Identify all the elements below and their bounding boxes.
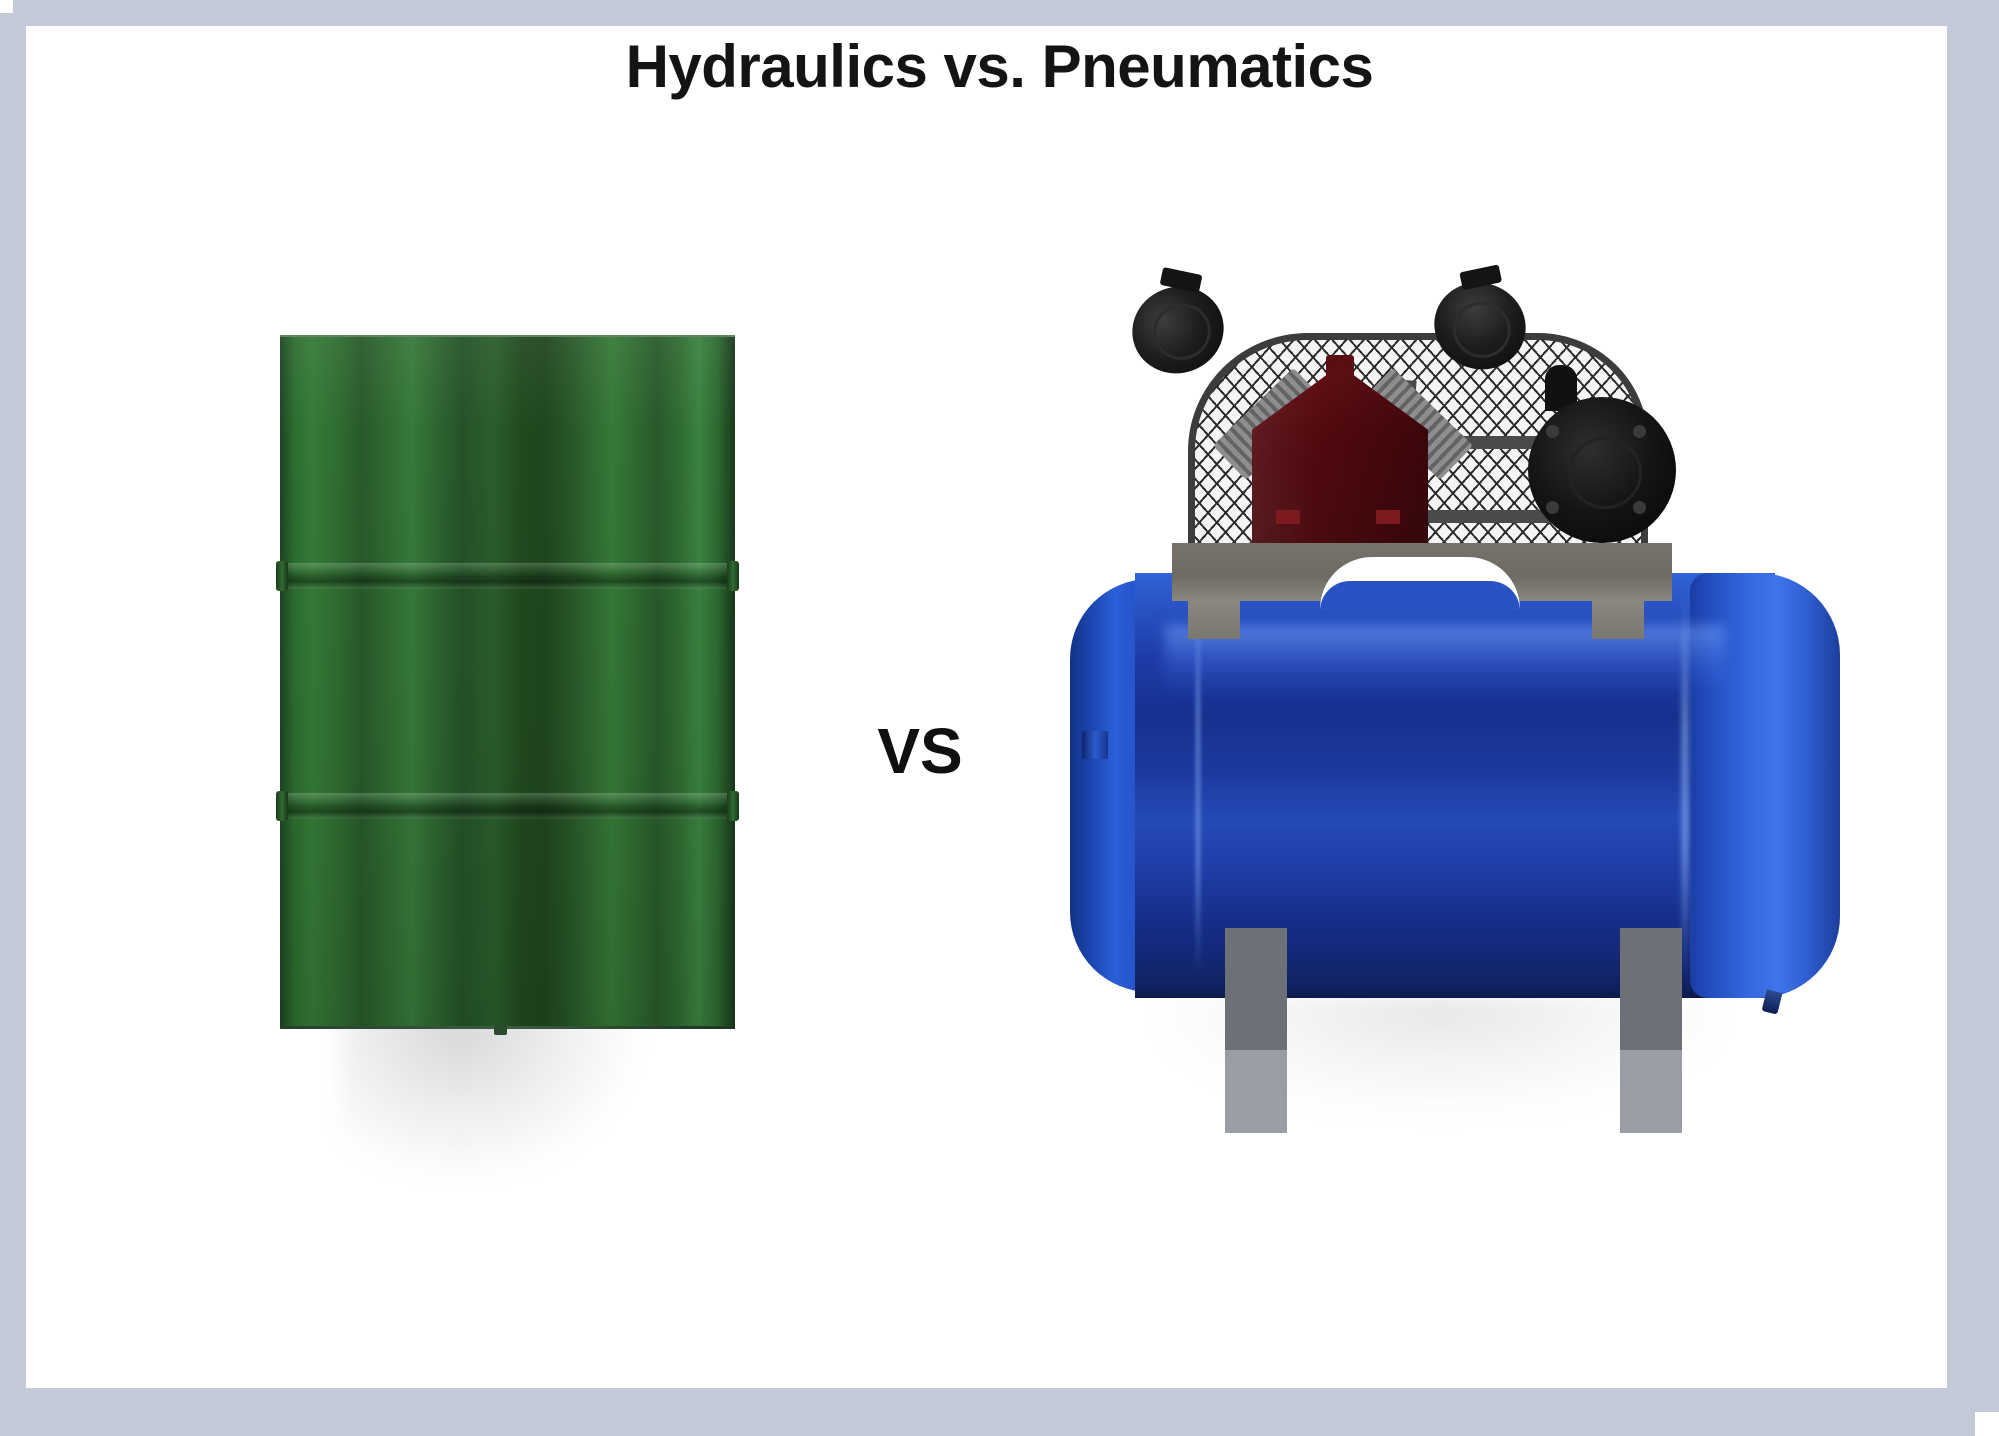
tank-leg-left (1225, 928, 1287, 1133)
oil-drum-hoop-knob-right (727, 561, 739, 591)
tank-leg-upper (1620, 928, 1682, 1050)
oil-drum-hoop-knob-left (276, 791, 288, 821)
frame-corner-notch-bottom-right (1975, 1412, 1999, 1436)
page-title: Hydraulics vs. Pneumatics (0, 32, 1999, 101)
motor-bolt (1633, 425, 1646, 438)
oil-drum-hoop-knob-left (276, 561, 288, 591)
pneumatics-air-compressor (1040, 305, 1870, 1055)
oil-drum-bung-plug (494, 1026, 507, 1035)
cylinder-head-ring (1145, 296, 1219, 368)
hydraulics-oil-drum (280, 335, 735, 1035)
tank-leg-right (1620, 928, 1682, 1133)
oil-drum-hoop-knob-right (727, 791, 739, 821)
motor-bolt (1546, 425, 1559, 438)
tank-nipple-icon (1082, 731, 1108, 759)
base-plate-saddle-tank-fill (1320, 581, 1520, 611)
tank-leg-lower (1620, 1050, 1682, 1133)
oil-drum-body (280, 335, 735, 1028)
oil-drum-bottom-edge (280, 1026, 735, 1029)
tank-weld-seam-left (1196, 595, 1200, 977)
cylinder-head-ring (1445, 294, 1519, 366)
oil-drum-rolling-hoop-lower (276, 793, 739, 819)
versus-label: VS (840, 714, 1000, 788)
air-receiver-tank (1070, 573, 1840, 998)
motor-end-bell-ring (1568, 437, 1642, 509)
base-mount-bracket-right (1592, 599, 1644, 639)
compressor-pump-assembly (1160, 305, 1720, 605)
motor-bolt (1546, 501, 1559, 514)
frame-corner-notch-top-left (0, 0, 13, 13)
motor-bolt (1633, 501, 1646, 514)
pump-mount-foot-left (1276, 510, 1300, 524)
tank-leg-upper (1225, 928, 1287, 1050)
oil-drum-rolling-hoop-upper (276, 563, 739, 589)
base-mount-bracket-left (1188, 599, 1240, 639)
tank-leg-lower (1225, 1050, 1287, 1133)
tank-weld-seam-right (1682, 591, 1688, 981)
slide-frame: Hydraulics vs. Pneumatics VS (0, 0, 1999, 1436)
pump-mount-foot-right (1376, 510, 1400, 524)
electric-motor-icon (1528, 397, 1676, 543)
